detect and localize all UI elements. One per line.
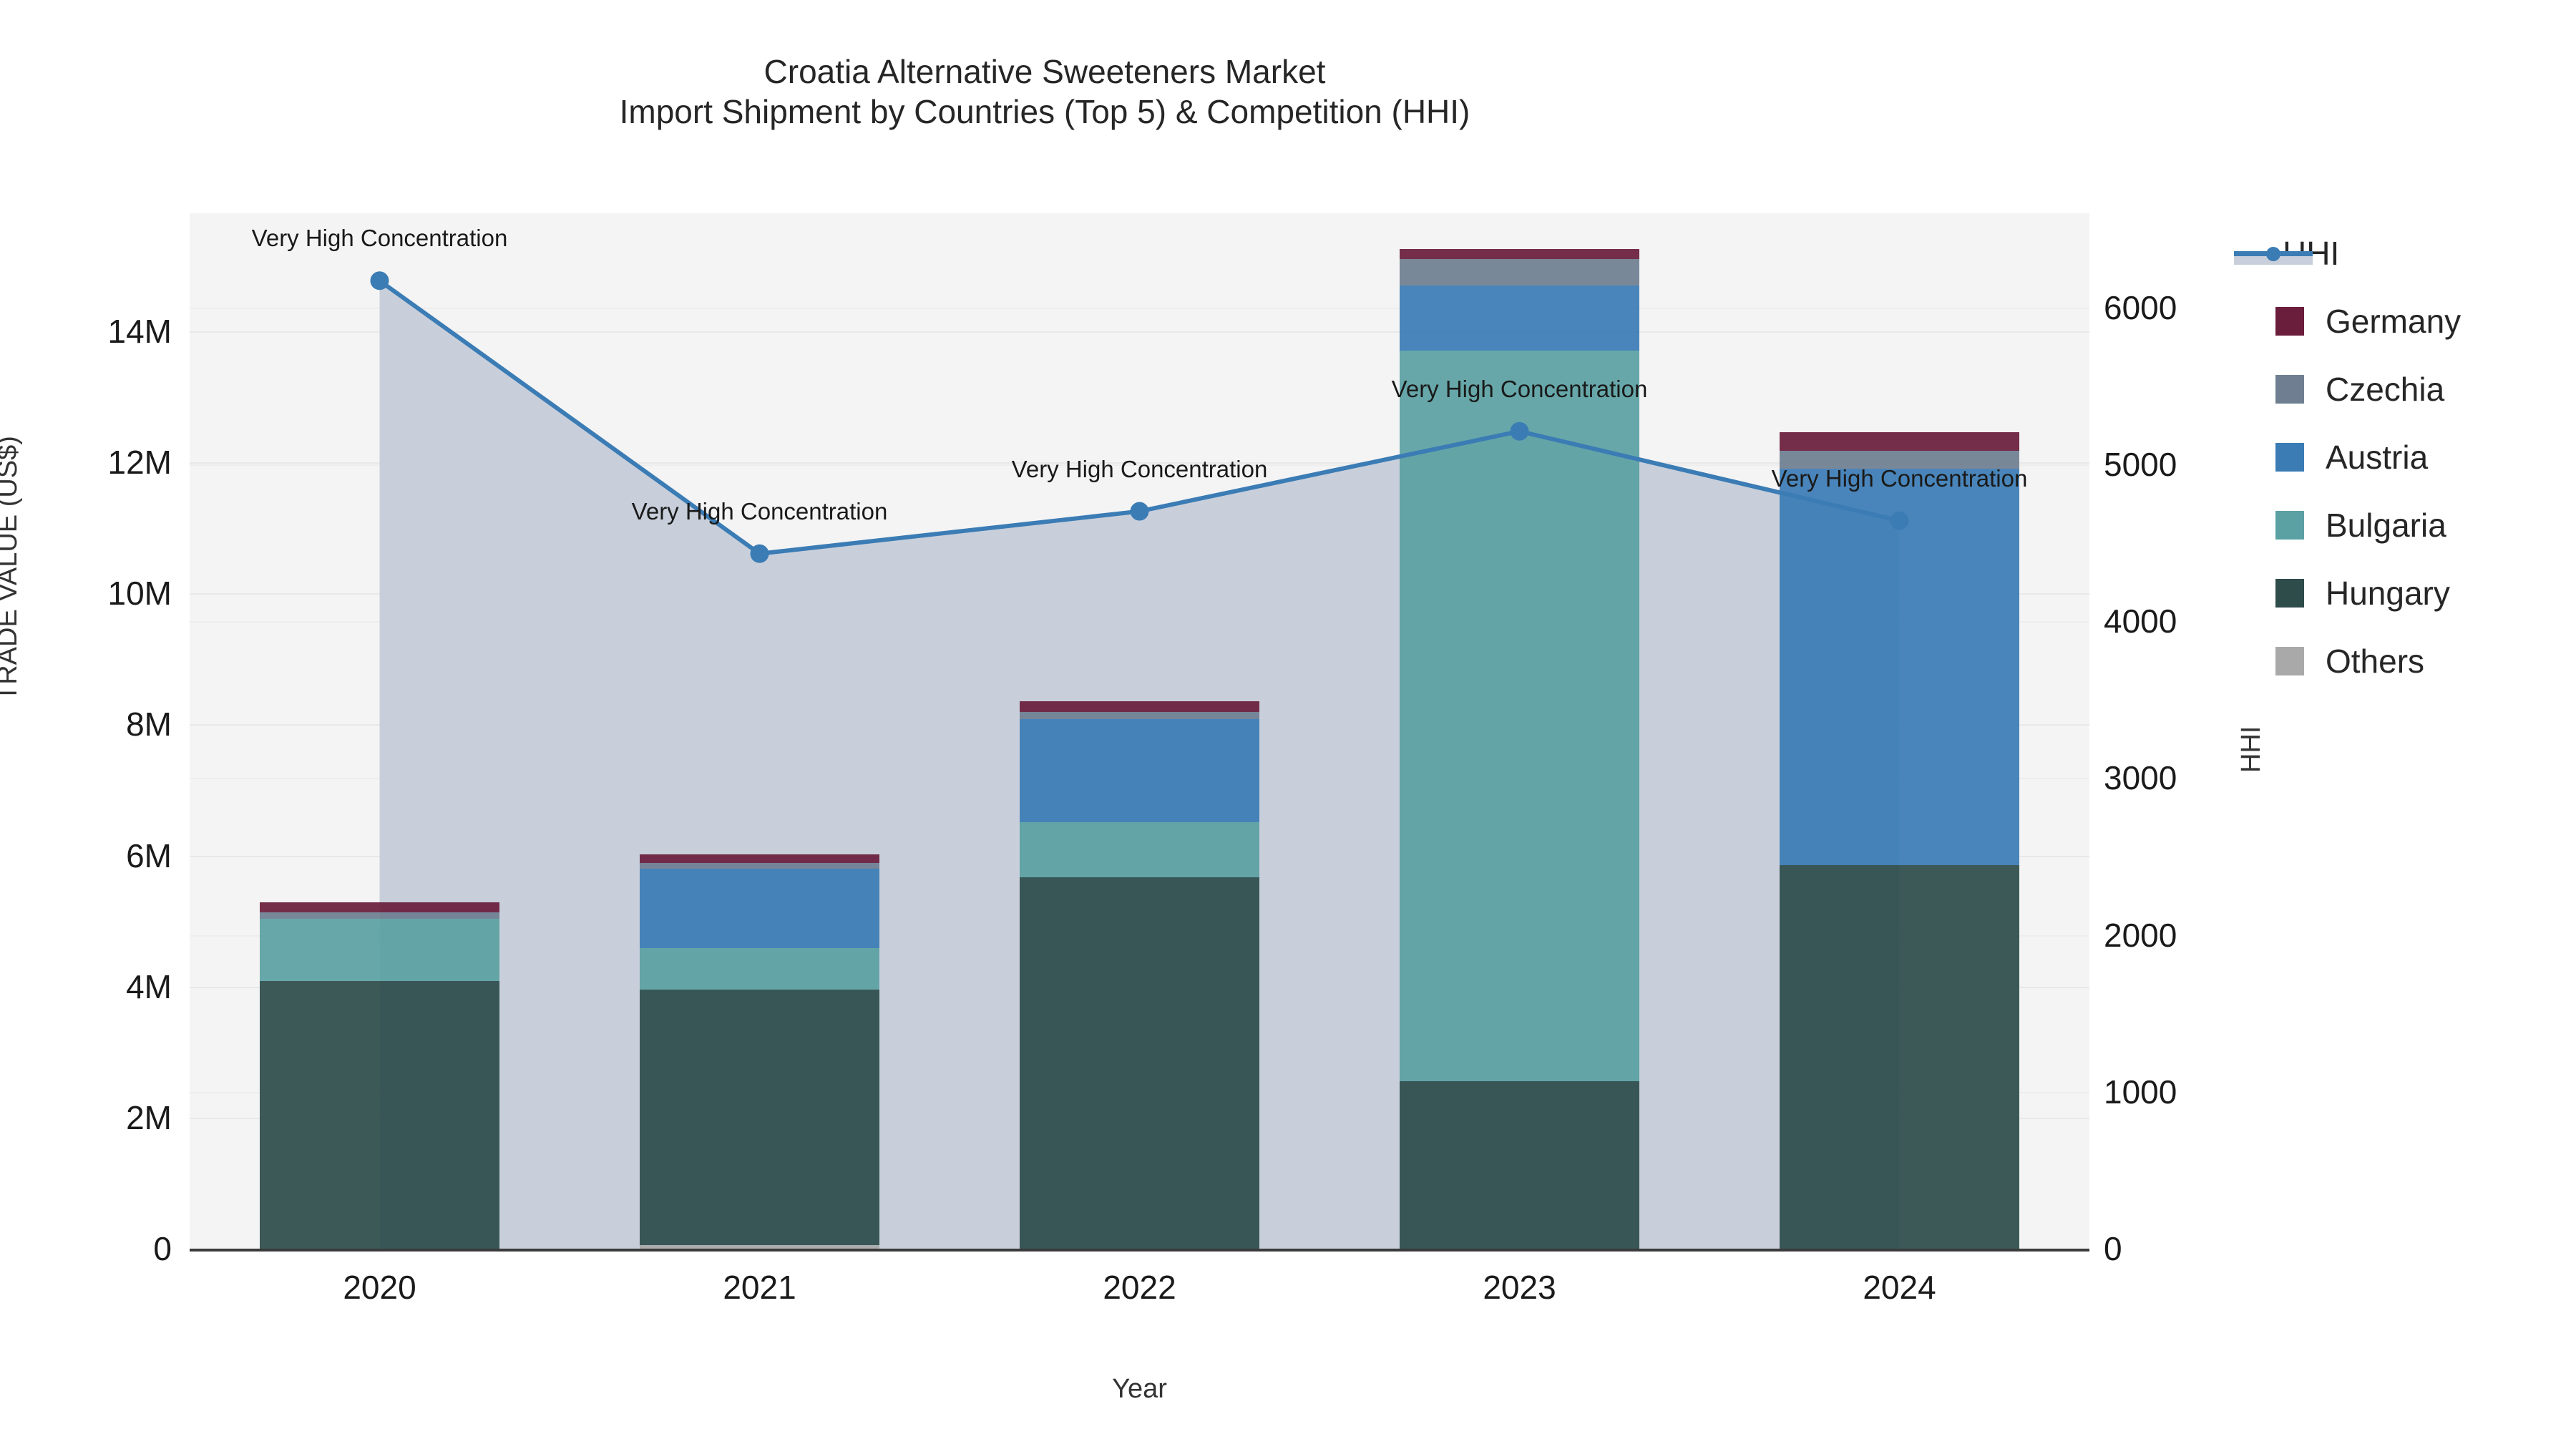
legend-swatch-icon: [2275, 647, 2304, 675]
x-axis-title: Year: [190, 1374, 2089, 1405]
y-axis-right-tick-label: 4000: [2104, 602, 2247, 640]
legend-item-others[interactable]: Others: [2275, 644, 2576, 678]
chart-title-line2: Import Shipment by Countries (Top 5) & C…: [0, 92, 2089, 132]
chart-title: Croatia Alternative Sweeteners Market Im…: [0, 52, 2089, 132]
hhi-marker[interactable]: [1511, 422, 1529, 441]
chart-root: Croatia Alternative Sweeteners Market Im…: [0, 0, 2576, 1449]
y-axis-left-tick-label: 6M: [0, 836, 172, 875]
y-axis-left-tick-label: 8M: [0, 705, 172, 743]
y-axis-left-tick-label: 10M: [0, 574, 172, 613]
hhi-line-series: [190, 213, 2089, 1249]
legend-item-label: Germany: [2326, 302, 2461, 341]
y-axis-left-tick-label: 14M: [0, 312, 172, 351]
legend-item-label: Czechia: [2326, 370, 2444, 409]
y-axis-right-tick-label: 1000: [2104, 1073, 2247, 1111]
legend-item-germany[interactable]: Germany: [2275, 304, 2576, 338]
annotation-label: Very High Concentration: [1772, 465, 2028, 492]
x-axis-tick-label: 2022: [1103, 1268, 1176, 1307]
hhi-marker[interactable]: [751, 545, 769, 563]
y-axis-right-tick-label: 5000: [2104, 445, 2247, 484]
y-axis-right-tick-label: 6000: [2104, 288, 2247, 327]
legend-swatch-icon: [2275, 375, 2304, 404]
legend-item-bulgaria[interactable]: Bulgaria: [2275, 508, 2576, 542]
legend-swatch-icon: [2275, 511, 2304, 540]
y-axis-right-tick-label: 2000: [2104, 916, 2247, 955]
annotation-label: Very High Concentration: [252, 225, 508, 252]
x-axis-spine: [190, 1249, 2089, 1252]
annotation-label: Very High Concentration: [632, 498, 888, 525]
hhi-marker[interactable]: [371, 271, 389, 290]
legend-swatch-icon: [2275, 579, 2304, 608]
legend-item-label: Hungary: [2326, 574, 2450, 613]
y-axis-right-title: HHI: [2236, 726, 2267, 773]
legend-swatch-icon: [2275, 307, 2304, 336]
y-axis-left-tick-label: 2M: [0, 1098, 172, 1137]
y-axis-left-title: TRADE VALUE (US$): [0, 436, 24, 701]
legend-line-icon: [2234, 239, 2313, 268]
hhi-marker[interactable]: [1131, 502, 1149, 521]
legend-item-hungary[interactable]: Hungary: [2275, 576, 2576, 610]
y-axis-right-tick-label: 0: [2104, 1229, 2247, 1268]
y-axis-right-tick-label: 3000: [2104, 758, 2247, 797]
x-axis-tick-label: 2023: [1483, 1268, 1556, 1307]
annotation-label: Very High Concentration: [1012, 456, 1268, 483]
legend-item-label: Austria: [2326, 438, 2428, 477]
annotation-label: Very High Concentration: [1392, 376, 1648, 403]
legend-item-austria[interactable]: Austria: [2275, 440, 2576, 474]
legend-swatch-icon: [2275, 443, 2304, 472]
hhi-marker[interactable]: [1890, 512, 1909, 530]
x-axis-tick-label: 2021: [723, 1268, 796, 1307]
y-axis-left-tick-label: 0: [0, 1229, 172, 1268]
chart-legend: HHIGermanyCzechiaAustriaBulgariaHungaryO…: [2275, 236, 2576, 712]
chart-title-line1: Croatia Alternative Sweeteners Market: [764, 53, 1326, 90]
x-axis-tick-label: 2020: [343, 1268, 416, 1307]
y-axis-left-tick-label: 12M: [0, 443, 172, 482]
legend-item-label: Bulgaria: [2326, 506, 2446, 545]
x-axis-tick-label: 2024: [1863, 1268, 1936, 1307]
legend-item-hhi[interactable]: HHI: [2275, 236, 2576, 270]
legend-item-czechia[interactable]: Czechia: [2275, 372, 2576, 406]
y-axis-left-tick-label: 4M: [0, 967, 172, 1006]
legend-item-label: Others: [2326, 642, 2424, 680]
